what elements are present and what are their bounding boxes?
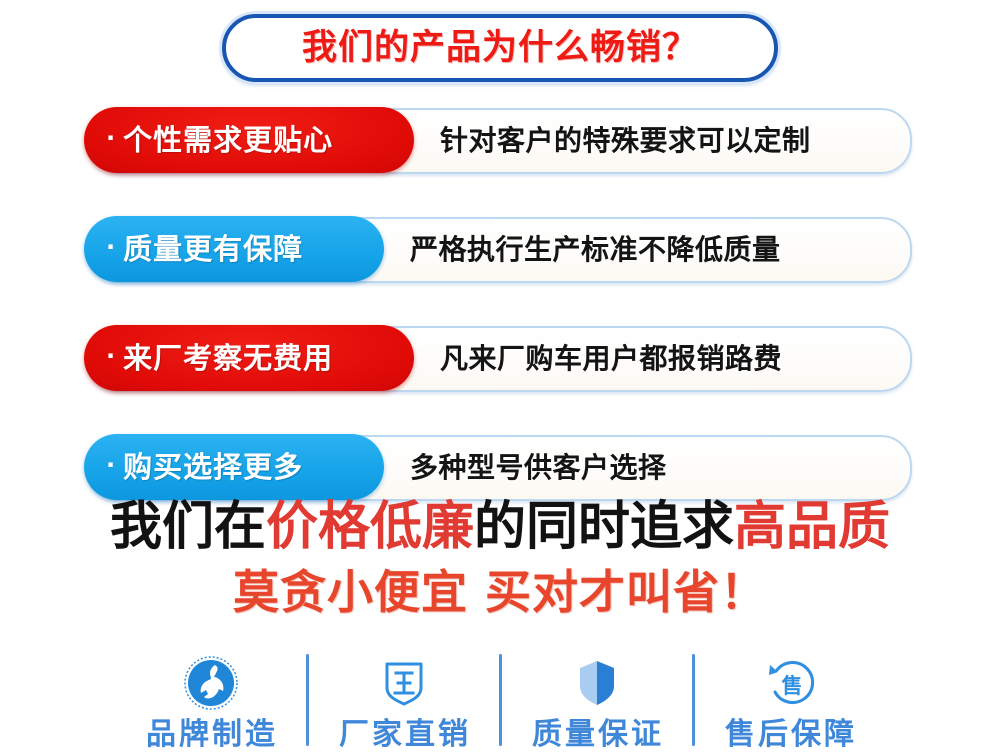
footer-divider [692, 654, 695, 746]
footer-badges: 品牌制造 厂家直销 质量保证 [0, 634, 1000, 750]
slogan-segment-highlight-1: 价格低廉 [266, 497, 474, 557]
feature-row: · 购买选择更多 多种型号供客户选择 [88, 435, 912, 501]
footer-item-factory-direct: 厂家直销 [311, 638, 497, 750]
feature-description: 严格执行生产标准不降低质量 [410, 236, 781, 264]
footer-item-label: 质量保证 [529, 720, 664, 750]
feature-description: 多种型号供客户选择 [410, 454, 667, 482]
footer-item-quality-guarantee: 质量保证 [504, 638, 690, 750]
brand-wrench-icon [181, 652, 241, 714]
title-section: 我们的产品为什么畅销？ [0, 8, 1000, 88]
feature-row: · 质量更有保障 严格执行生产标准不降低质量 [88, 217, 912, 283]
feature-tag-badge: · 个性需求更贴心 [84, 107, 414, 173]
slogan-segment-plain-1: 我们在 [110, 497, 266, 557]
footer-divider [306, 654, 309, 746]
after-sale-refresh-icon: 售 [760, 652, 820, 714]
bullet-icon: · [106, 126, 116, 150]
slogan-line-secondary: 莫贪小便宜 买对才叫省！ [0, 564, 1000, 620]
page-title: 我们的产品为什么畅销？ [302, 31, 698, 66]
slogan-section: 我们在价格低廉的同时追求高品质 莫贪小便宜 买对才叫省！ [0, 496, 1000, 620]
feature-description: 凡来厂购车用户都报销路费 [440, 345, 782, 373]
slogan-segment-highlight-2: 高品质 [734, 497, 890, 557]
title-pill: 我们的产品为什么畅销？ [222, 14, 778, 82]
svg-text:售: 售 [781, 674, 802, 698]
feature-tag-label: 购买选择更多 [123, 453, 303, 482]
bullet-icon: · [106, 235, 116, 259]
feature-tag-badge: · 购买选择更多 [84, 434, 384, 500]
slogan-segment-plain-2: 的同时追求 [474, 497, 734, 557]
feature-row: · 个性需求更贴心 针对客户的特殊要求可以定制 [88, 108, 912, 174]
shield-zheng-icon [375, 652, 433, 714]
footer-item-label: 厂家直销 [336, 720, 471, 750]
bullet-icon: · [106, 453, 116, 477]
footer-item-label: 品牌制造 [143, 720, 278, 750]
feature-tag-label: 个性需求更贴心 [123, 126, 333, 155]
feature-tag-label: 质量更有保障 [123, 235, 303, 264]
bullet-icon: · [106, 344, 116, 368]
footer-item-label: 售后保障 [722, 720, 857, 750]
footer-item-after-sales: 售 售后保障 [697, 638, 883, 750]
feature-tag-badge: · 来厂考察无费用 [84, 325, 414, 391]
feature-tag-label: 来厂考察无费用 [123, 344, 333, 373]
footer-item-brand-manufacturing: 品牌制造 [118, 638, 304, 750]
feature-list: · 个性需求更贴心 针对客户的特殊要求可以定制 · 质量更有保障 严格执行生产标… [88, 108, 912, 501]
feature-tag-badge: · 质量更有保障 [84, 216, 384, 282]
feature-row: · 来厂考察无费用 凡来厂购车用户都报销路费 [88, 326, 912, 392]
slogan-line-primary: 我们在价格低廉的同时追求高品质 [0, 496, 1000, 558]
footer-divider [499, 654, 502, 746]
shield-solid-icon [568, 652, 626, 714]
feature-description: 针对客户的特殊要求可以定制 [440, 127, 811, 155]
